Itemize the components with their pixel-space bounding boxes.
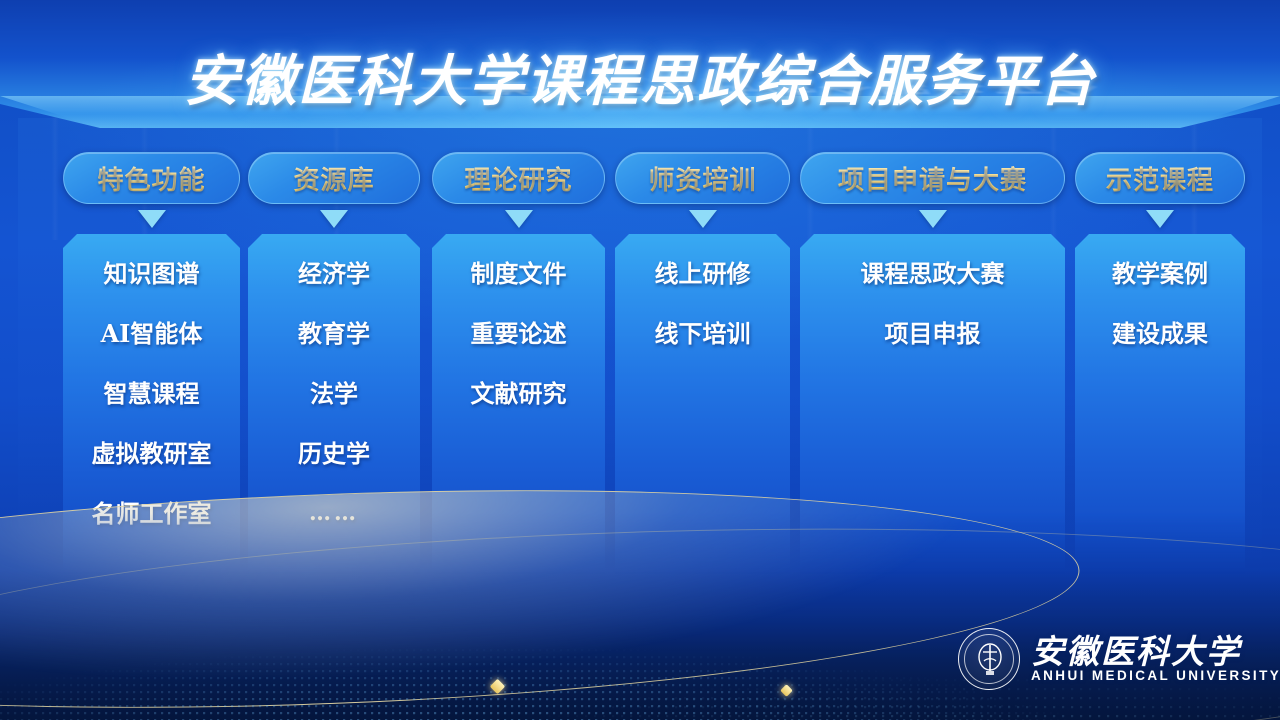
university-name-cn: 安徽医科大学 bbox=[1031, 635, 1280, 668]
list-item-ellipsis: …… bbox=[248, 502, 420, 524]
slide-canvas: 安徽医科大学课程思政综合服务平台 安徽医科大学课程思政综合服务平台 特色功能 知… bbox=[0, 0, 1280, 720]
list-item[interactable]: 名师工作室 bbox=[63, 502, 240, 526]
list-item[interactable]: 课程思政大赛 bbox=[800, 262, 1065, 286]
chevron-down-icon-2 bbox=[505, 210, 533, 228]
category-pill-1[interactable]: 资源库 bbox=[248, 152, 420, 204]
list-item[interactable]: 历史学 bbox=[248, 442, 420, 466]
list-item[interactable]: 经济学 bbox=[248, 262, 420, 286]
column-师资培训: 师资培训 线上研修 线下培训 bbox=[615, 152, 790, 574]
list-item[interactable]: 文献研究 bbox=[432, 382, 605, 406]
column-示范课程: 示范课程 教学案例 建设成果 bbox=[1075, 152, 1245, 574]
university-name-en: ANHUI MEDICAL UNIVERSITY bbox=[1031, 669, 1280, 683]
list-item[interactable]: AI智能体 bbox=[63, 322, 240, 346]
university-logo-text: 安徽医科大学 ANHUI MEDICAL UNIVERSITY bbox=[1031, 635, 1280, 683]
list-item[interactable]: 教育学 bbox=[248, 322, 420, 346]
list-item[interactable]: 制度文件 bbox=[432, 262, 605, 286]
category-pill-label-0: 特色功能 bbox=[97, 160, 205, 197]
category-pill-label-5: 示范课程 bbox=[1106, 160, 1214, 197]
column-特色功能: 特色功能 知识图谱 AI智能体 智慧课程 虚拟教研室 名师工作室 bbox=[63, 152, 240, 574]
university-seal-icon bbox=[958, 628, 1020, 690]
list-item[interactable]: 教学案例 bbox=[1075, 262, 1245, 286]
category-pill-0[interactable]: 特色功能 bbox=[63, 152, 240, 204]
chevron-down-icon-0 bbox=[138, 210, 166, 228]
category-card-2[interactable]: 制度文件 重要论述 文献研究 bbox=[432, 234, 605, 574]
list-item[interactable]: 虚拟教研室 bbox=[63, 442, 240, 466]
category-pill-label-2: 理论研究 bbox=[464, 160, 572, 197]
category-card-4[interactable]: 课程思政大赛 项目申报 bbox=[800, 234, 1065, 574]
category-pill-2[interactable]: 理论研究 bbox=[432, 152, 605, 204]
list-item[interactable]: 项目申报 bbox=[800, 322, 1065, 346]
chevron-down-icon-1 bbox=[320, 210, 348, 228]
list-item[interactable]: 线上研修 bbox=[615, 262, 790, 286]
category-pill-5[interactable]: 示范课程 bbox=[1075, 152, 1245, 204]
category-pill-4[interactable]: 项目申请与大赛 bbox=[800, 152, 1065, 204]
column-资源库: 资源库 经济学 教育学 法学 历史学 …… bbox=[248, 152, 420, 574]
column-理论研究: 理论研究 制度文件 重要论述 文献研究 bbox=[432, 152, 605, 574]
list-item[interactable]: 法学 bbox=[248, 382, 420, 406]
university-logo: 安徽医科大学 ANHUI MEDICAL UNIVERSITY bbox=[958, 628, 1280, 690]
chevron-down-icon-4 bbox=[919, 210, 947, 228]
category-pill-label-1: 资源库 bbox=[293, 160, 374, 197]
chevron-down-icon-3 bbox=[689, 210, 717, 228]
category-pill-3[interactable]: 师资培训 bbox=[615, 152, 790, 204]
category-pill-label-4: 项目申请与大赛 bbox=[838, 160, 1027, 197]
category-columns: 特色功能 知识图谱 AI智能体 智慧课程 虚拟教研室 名师工作室 资源库 经济学… bbox=[0, 0, 1280, 720]
list-item[interactable]: 知识图谱 bbox=[63, 262, 240, 286]
list-item[interactable]: 建设成果 bbox=[1075, 322, 1245, 346]
category-card-5[interactable]: 教学案例 建设成果 bbox=[1075, 234, 1245, 574]
list-item[interactable]: 重要论述 bbox=[432, 322, 605, 346]
column-项目申请与大赛: 项目申请与大赛 课程思政大赛 项目申报 bbox=[800, 152, 1065, 574]
category-card-1[interactable]: 经济学 教育学 法学 历史学 …… bbox=[248, 234, 420, 574]
category-pill-label-3: 师资培训 bbox=[648, 160, 756, 197]
category-card-0[interactable]: 知识图谱 AI智能体 智慧课程 虚拟教研室 名师工作室 bbox=[63, 234, 240, 574]
chevron-down-icon-5 bbox=[1146, 210, 1174, 228]
list-item[interactable]: 智慧课程 bbox=[63, 382, 240, 406]
category-card-3[interactable]: 线上研修 线下培训 bbox=[615, 234, 790, 574]
list-item[interactable]: 线下培训 bbox=[615, 322, 790, 346]
